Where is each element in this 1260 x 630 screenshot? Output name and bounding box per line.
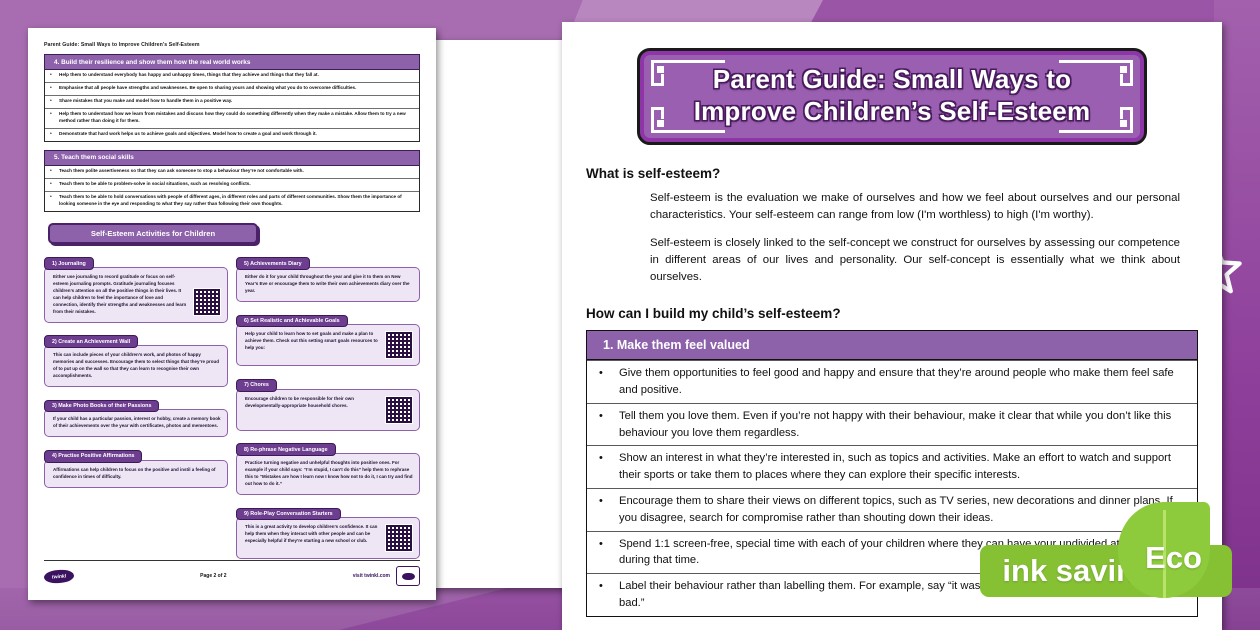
section-header: 1. Make them feel valued xyxy=(587,331,1197,360)
paragraph-definition: Self-esteem is the evaluation we make of… xyxy=(650,190,1180,224)
bullet-icon: • xyxy=(50,194,59,208)
twinkl-badge-icon xyxy=(396,566,420,586)
activity-card-body: Encourage children to be responsible for… xyxy=(236,389,420,431)
bullet-row: •Encourage them to share their views on … xyxy=(587,488,1197,531)
activity-card-title: 3) Make Photo Books of their Passions xyxy=(44,400,159,413)
activity-card-text: This can include pieces of your children… xyxy=(53,352,221,380)
activity-card-text: Either do it for your child throughout t… xyxy=(245,274,413,295)
activity-card-body: Help your child to learn how to set goal… xyxy=(236,324,420,366)
thumbnail-footer: twinkl Page 2 of 2 visit twinkl.com xyxy=(44,560,420,586)
qr-code-icon[interactable] xyxy=(385,396,413,424)
row-text: Help them to understand everybody has ha… xyxy=(59,72,414,79)
activity-card-text: Practice turning negative and unhelpful … xyxy=(245,460,413,488)
page-number: Page 2 of 2 xyxy=(74,573,353,579)
bullet-text: Encourage them to share their views on d… xyxy=(619,493,1187,527)
thumbnail-section: 4. Build their resilience and show them … xyxy=(44,54,420,142)
page-title-line-1: Parent Guide: Small Ways to xyxy=(713,64,1071,94)
activity-card-title: 6) Set Realistic and Achievable Goals xyxy=(236,315,348,328)
thumbnail-running-head: Parent Guide: Small Ways to Improve Chil… xyxy=(44,42,420,48)
bullet-icon: • xyxy=(599,578,619,612)
activity-card-text: Help your child to learn how to set goal… xyxy=(245,331,381,352)
activity-card-text: If your child has a particular passion, … xyxy=(53,416,221,430)
thumbnail-section-title: 4. Build their resilience and show them … xyxy=(44,54,420,70)
bullet-row: •Tell them you love them. Even if you’re… xyxy=(587,403,1197,446)
activity-card-text: Encourage children to be responsible for… xyxy=(245,396,381,410)
activity-card-title: 5) Achievements Diary xyxy=(236,257,310,270)
activity-card-body: If your child has a particular passion, … xyxy=(44,409,228,437)
row-text: Emphasise that all people have strengths… xyxy=(59,85,414,92)
twinkl-logo: twinkl xyxy=(44,568,75,583)
table-row: •Teach them polite assertiveness so that… xyxy=(45,166,419,178)
bullet-row: •Show an interest in what they’re intere… xyxy=(587,445,1197,488)
bullet-text: Tell them you love them. Even if you’re … xyxy=(619,408,1187,442)
paragraph-self-concept: Self-esteem is closely linked to the sel… xyxy=(650,235,1180,285)
table-row: •Emphasise that all people have strength… xyxy=(45,82,419,95)
activity-card[interactable]: 5) Achievements Diary Either do it for y… xyxy=(236,252,420,302)
table-row: •Share mistakes that you make and model … xyxy=(45,95,419,108)
activity-card-body: Practice turning negative and unhelpful … xyxy=(236,453,420,495)
thumbnail-section-title: 5. Teach them social skills xyxy=(44,150,420,166)
activity-card[interactable]: 1) Journaling Either use journaling to r… xyxy=(44,252,228,323)
thumbnail-section-table: •Teach them polite assertiveness so that… xyxy=(44,166,420,212)
row-text: Help them to understand how we learn fro… xyxy=(59,111,414,125)
bullet-icon: • xyxy=(50,98,59,105)
thumbnail-section: 5. Teach them social skills •Teach them … xyxy=(44,150,420,212)
table-row: •Teach them to be able to problem-solve … xyxy=(45,178,419,191)
activity-card-body: Either do it for your child throughout t… xyxy=(236,267,420,302)
heading-what-is-self-esteem: What is self-esteem? xyxy=(586,166,1198,181)
activity-card-title: 9) Role-Play Conversation Starters xyxy=(236,508,341,521)
bullet-row: •Give them opportunities to feel good an… xyxy=(587,360,1197,403)
bullet-icon: • xyxy=(50,168,59,175)
activity-card-title: 4) Practise Positive Affirmations xyxy=(44,450,142,463)
qr-code-icon[interactable] xyxy=(193,288,221,316)
activity-card-body: This is a great activity to develop chil… xyxy=(236,517,420,559)
page-title: Parent Guide: Small Ways to Improve Chil… xyxy=(664,64,1120,127)
activity-card[interactable]: 2) Create an Achievement Wall This can i… xyxy=(44,330,228,387)
qr-code-icon[interactable] xyxy=(385,331,413,359)
table-row: •Demonstrate that hard work helps us to … xyxy=(45,128,419,141)
page-title-line-2: Improve Children’s Self-Esteem xyxy=(694,96,1091,126)
table-row: •Help them to understand everybody has h… xyxy=(45,70,419,82)
bullet-icon: • xyxy=(50,72,59,79)
heading-how-to-build: How can I build my child’s self-esteem? xyxy=(586,306,1198,321)
row-text: Demonstrate that hard work helps us to a… xyxy=(59,131,414,138)
row-text: Teach them to be able to hold conversati… xyxy=(59,194,414,208)
ink-saving-eco-badge: ink saving Eco xyxy=(980,540,1232,602)
bullet-icon: • xyxy=(599,365,619,399)
row-text: Teach them polite assertiveness so that … xyxy=(59,168,414,175)
activities-banner: Self-Esteem Activities for Children xyxy=(48,223,258,244)
activities-column-right: 5) Achievements Diary Either do it for y… xyxy=(236,252,420,567)
activity-card[interactable]: 6) Set Realistic and Achievable Goals He… xyxy=(236,309,420,366)
bullet-text: Show an interest in what they’re interes… xyxy=(619,450,1187,484)
bullet-icon: • xyxy=(599,408,619,442)
activity-card[interactable]: 7) Chores Encourage children to be respo… xyxy=(236,373,420,430)
bullet-icon: • xyxy=(599,536,619,570)
activity-card[interactable]: 9) Role-Play Conversation Starters This … xyxy=(236,502,420,559)
activities-column-left: 1) Journaling Either use journaling to r… xyxy=(44,252,228,567)
activity-card[interactable]: 3) Make Photo Books of their Passions If… xyxy=(44,394,228,437)
qr-code-icon[interactable] xyxy=(385,524,413,552)
eco-badge-word: Eco xyxy=(1145,540,1202,576)
activity-card-text: Affirmations can help children to focus … xyxy=(53,467,221,481)
thumbnail-section-table: •Help them to understand everybody has h… xyxy=(44,70,420,142)
activity-card-text: Either use journaling to record gratitud… xyxy=(53,274,189,316)
activity-card-title: 1) Journaling xyxy=(44,257,94,270)
activity-card-title: 2) Create an Achievement Wall xyxy=(44,335,138,348)
bullet-text: Give them opportunities to feel good and… xyxy=(619,365,1187,399)
visit-link[interactable]: visit twinkl.com xyxy=(353,573,390,579)
bullet-icon: • xyxy=(50,181,59,188)
row-text: Share mistakes that you make and model h… xyxy=(59,98,414,105)
thumbnail-page-2[interactable]: Parent Guide: Small Ways to Improve Chil… xyxy=(28,28,436,600)
bullet-icon: • xyxy=(50,111,59,125)
activity-card-title: 8) Re-phrase Negative Language xyxy=(236,443,336,456)
bullet-icon: • xyxy=(50,131,59,138)
hero-title-banner: Parent Guide: Small Ways to Improve Chil… xyxy=(637,48,1147,145)
bullet-icon: • xyxy=(50,85,59,92)
activity-card-body: This can include pieces of your children… xyxy=(44,345,228,387)
table-row: •Help them to understand how we learn fr… xyxy=(45,108,419,128)
table-row: •Teach them to be able to hold conversat… xyxy=(45,191,419,211)
activity-card[interactable]: 8) Re-phrase Negative Language Practice … xyxy=(236,438,420,495)
bullet-icon: • xyxy=(599,493,619,527)
activity-card-body: Affirmations can help children to focus … xyxy=(44,460,228,488)
activity-card[interactable]: 4) Practise Positive Affirmations Affirm… xyxy=(44,444,228,487)
activity-card-text: This is a great activity to develop chil… xyxy=(245,524,381,545)
row-text: Teach them to be able to problem-solve i… xyxy=(59,181,414,188)
bullet-icon: • xyxy=(599,450,619,484)
activity-card-body: Either use journaling to record gratitud… xyxy=(44,267,228,323)
activity-card-title: 7) Chores xyxy=(236,379,277,392)
